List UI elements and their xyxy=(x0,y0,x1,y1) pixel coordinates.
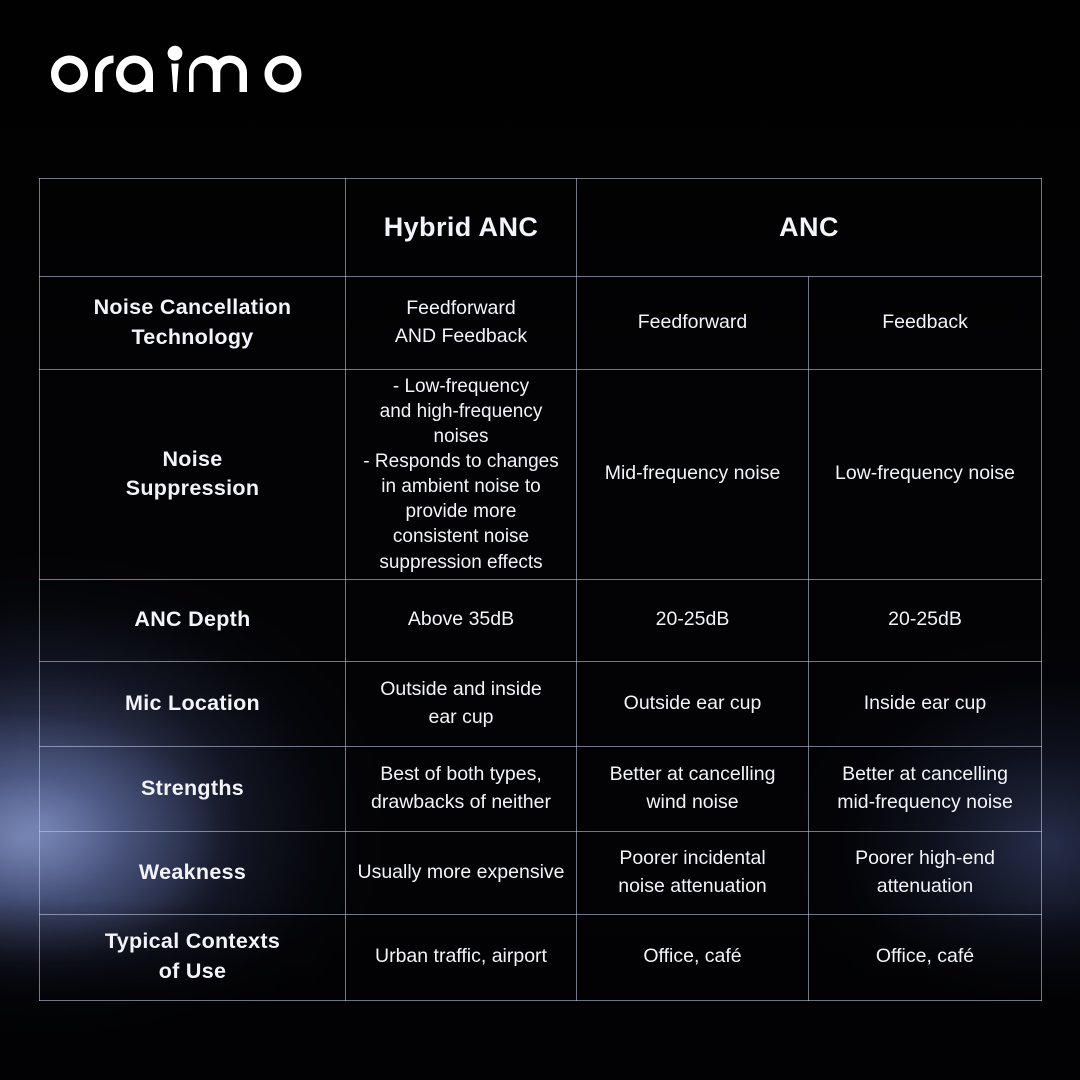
cell-feedforward-weakness: Poorer incidentalnoise attenuation xyxy=(577,831,809,914)
header-cell-blank xyxy=(40,179,346,277)
row-label-noise-cancellation-technology: Noise CancellationTechnology xyxy=(40,277,346,370)
table-row: Weakness Usually more expensive Poorer i… xyxy=(40,831,1042,914)
cell-feedforward-mic-location: Outside ear cup xyxy=(577,661,809,746)
cell-hybrid-strengths: Best of both types,drawbacks of neither xyxy=(346,746,577,831)
row-label-strengths: Strengths xyxy=(40,746,346,831)
cell-feedforward-anc-depth: 20-25dB xyxy=(577,579,809,661)
cell-feedback-anc-depth: 20-25dB xyxy=(809,579,1042,661)
row-label-weakness: Weakness xyxy=(40,831,346,914)
cell-hybrid-noise-suppression: - Low-frequencyand high-frequencynoises-… xyxy=(346,370,577,580)
row-label-typical-contexts-of-use: Typical Contextsof Use xyxy=(40,914,346,1000)
infographic-page: Hybrid ANC ANC Noise CancellationTechnol… xyxy=(0,0,1080,1080)
cell-feedback-weakness: Poorer high-endattenuation xyxy=(809,831,1042,914)
table-row: ANC Depth Above 35dB 20-25dB 20-25dB xyxy=(40,579,1042,661)
cell-feedback-noise-cancellation-technology: Feedback xyxy=(809,277,1042,370)
row-label-mic-location: Mic Location xyxy=(40,661,346,746)
cell-feedback-mic-location: Inside ear cup xyxy=(809,661,1042,746)
cell-feedforward-noise-suppression: Mid-frequency noise xyxy=(577,370,809,580)
cell-hybrid-anc-depth: Above 35dB xyxy=(346,579,577,661)
cell-feedforward-typical-contexts-of-use: Office, café xyxy=(577,914,809,1000)
cell-hybrid-mic-location: Outside and insideear cup xyxy=(346,661,577,746)
row-label-anc-depth: ANC Depth xyxy=(40,579,346,661)
cell-hybrid-weakness: Usually more expensive xyxy=(346,831,577,914)
oraimo-logo xyxy=(47,44,307,100)
row-label-noise-suppression: NoiseSuppression xyxy=(40,370,346,580)
table-row: Mic Location Outside and insideear cup O… xyxy=(40,661,1042,746)
cell-hybrid-typical-contexts-of-use: Urban traffic, airport xyxy=(346,914,577,1000)
cell-feedforward-strengths: Better at cancellingwind noise xyxy=(577,746,809,831)
header-cell-anc: ANC xyxy=(577,179,1042,277)
table-row: Typical Contextsof Use Urban traffic, ai… xyxy=(40,914,1042,1000)
cell-hybrid-noise-cancellation-technology: FeedforwardAND Feedback xyxy=(346,277,577,370)
cell-feedforward-noise-cancellation-technology: Feedforward xyxy=(577,277,809,370)
header-cell-hybrid-anc: Hybrid ANC xyxy=(346,179,577,277)
table-row: Noise CancellationTechnology Feedforward… xyxy=(40,277,1042,370)
table-row: Strengths Best of both types,drawbacks o… xyxy=(40,746,1042,831)
table-row: NoiseSuppression - Low-frequencyand high… xyxy=(40,370,1042,580)
anc-comparison-table: Hybrid ANC ANC Noise CancellationTechnol… xyxy=(39,178,1042,1001)
cell-feedback-noise-suppression: Low-frequency noise xyxy=(809,370,1042,580)
cell-feedback-typical-contexts-of-use: Office, café xyxy=(809,914,1042,1000)
cell-feedback-strengths: Better at cancellingmid-frequency noise xyxy=(809,746,1042,831)
table-header-row: Hybrid ANC ANC xyxy=(40,179,1042,277)
